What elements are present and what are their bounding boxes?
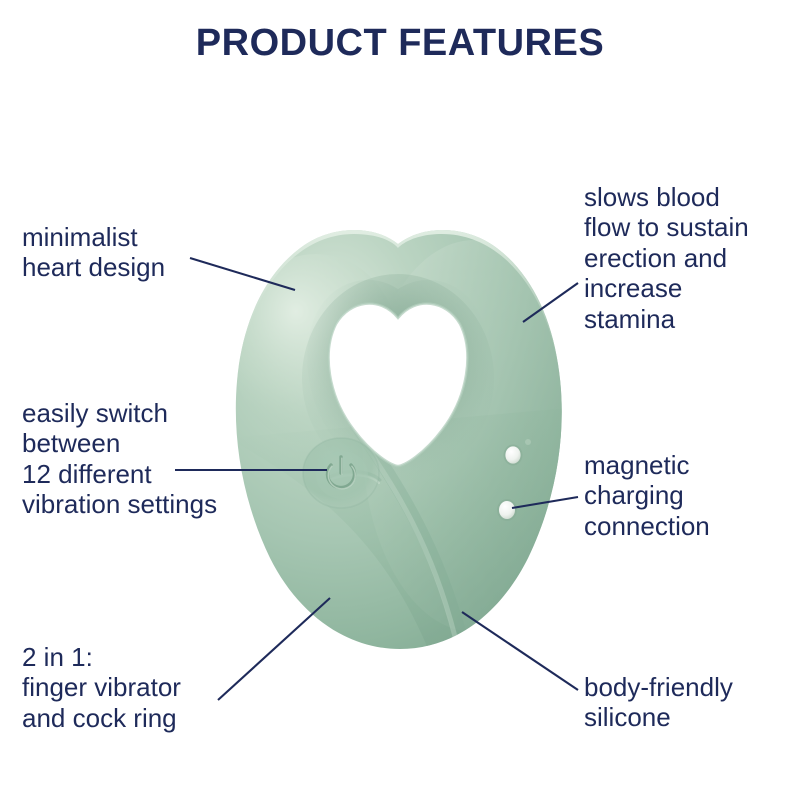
product-illustration [228, 228, 568, 653]
infographic-canvas: PRODUCT FEATURES [0, 0, 800, 800]
product-image [228, 228, 568, 653]
pin-area-speckle [525, 439, 531, 445]
callout-magnetic-charging-connection: magnetic charging connection [584, 450, 710, 541]
charging-pin-upper [504, 445, 523, 466]
charging-pin-lower [497, 499, 517, 521]
callout-slows-blood-flow: slows blood flow to sustain erection and… [584, 182, 749, 334]
callout-body-friendly-silicone: body-friendly silicone [584, 672, 733, 733]
power-button-group[interactable] [303, 438, 379, 508]
callout-easily-switch-vibration-settings: easily switch between 12 different vibra… [22, 398, 217, 520]
page-title: PRODUCT FEATURES [0, 22, 800, 65]
callout-2-in-1-finger-vibrator-cock-ring: 2 in 1: finger vibrator and cock ring [22, 642, 181, 733]
callout-minimalist-heart-design: minimalist heart design [22, 222, 165, 283]
